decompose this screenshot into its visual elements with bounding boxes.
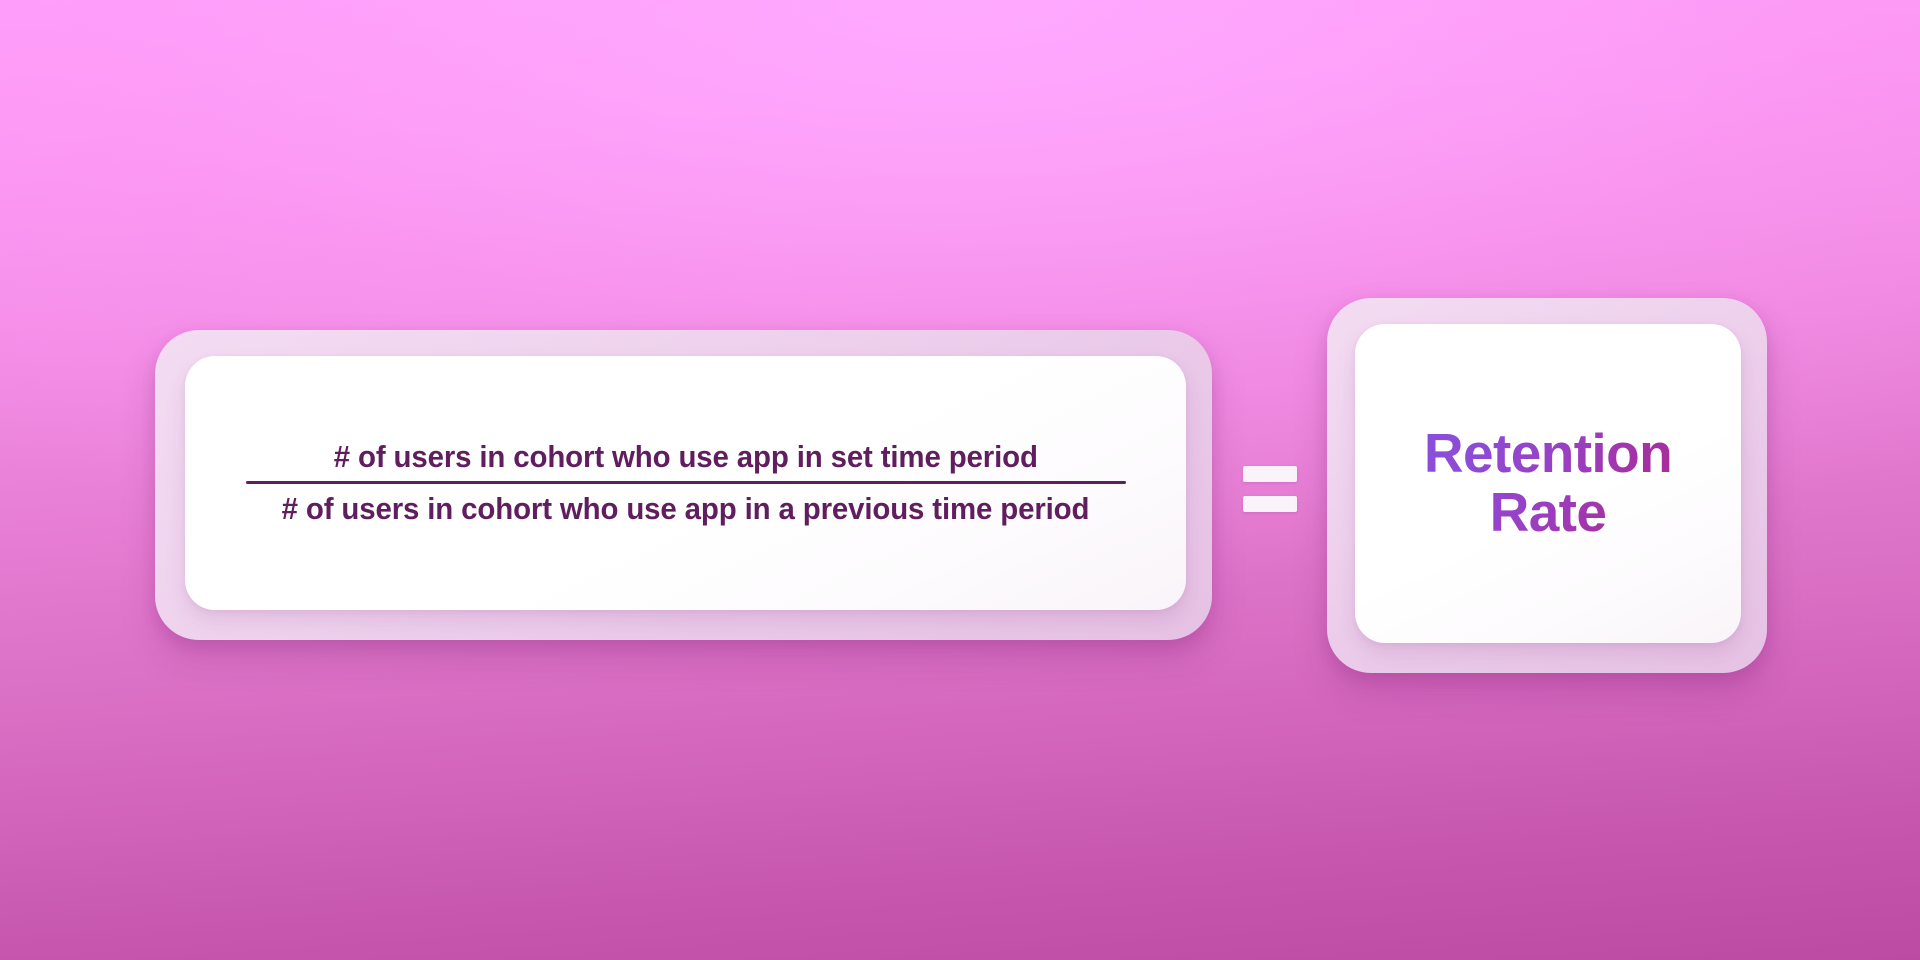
result-label-line2: Rate (1490, 481, 1607, 543)
result-card: Retention Rate (1355, 324, 1741, 643)
equals-bar-bottom (1243, 496, 1297, 512)
equals-bar-top (1243, 466, 1297, 482)
equals-sign-icon (1212, 466, 1327, 512)
result-label: Retention Rate (1424, 424, 1672, 543)
slide-canvas: # of users in cohort who use app in set … (0, 0, 1920, 960)
fraction-numerator: # of users in cohort who use app in set … (333, 440, 1037, 481)
fraction-denominator: # of users in cohort who use app in a pr… (282, 484, 1090, 526)
fraction: # of users in cohort who use app in set … (231, 440, 1140, 526)
formula-card-frame: # of users in cohort who use app in set … (155, 330, 1212, 640)
result-card-frame: Retention Rate (1327, 298, 1767, 673)
formula-card: # of users in cohort who use app in set … (185, 356, 1186, 610)
retention-rate-equation: # of users in cohort who use app in set … (155, 330, 1767, 640)
result-label-line1: Retention (1424, 422, 1672, 484)
